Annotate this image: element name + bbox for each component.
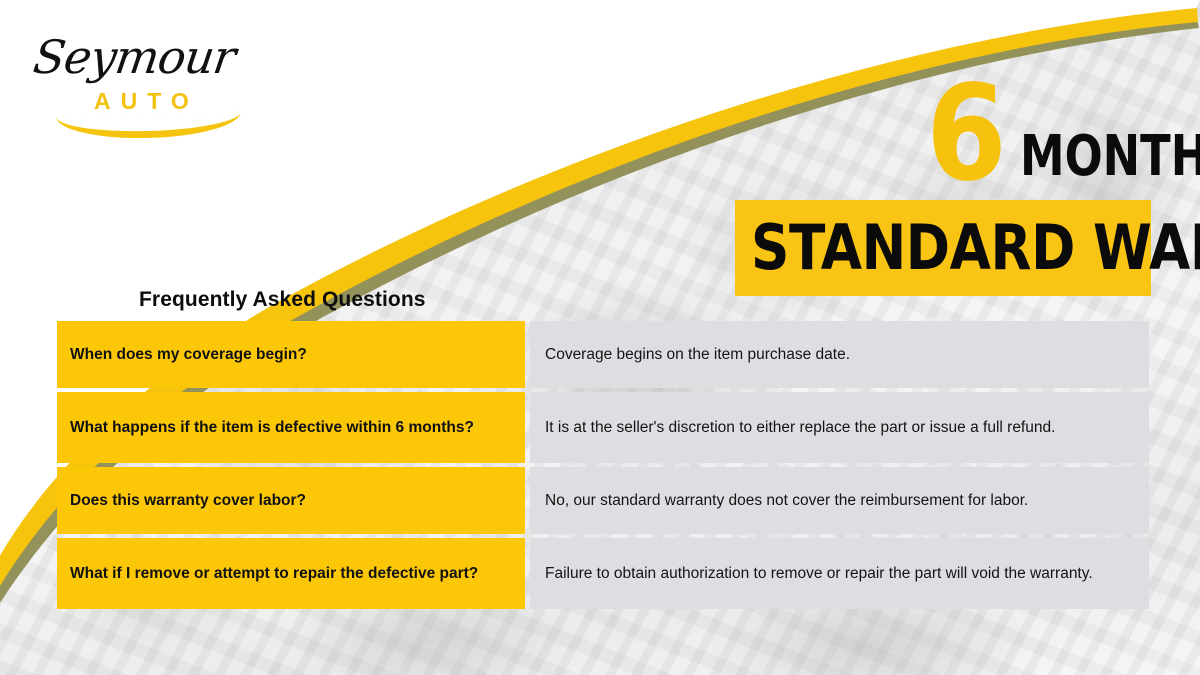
faq-question-text: Does this warranty cover labor?: [70, 490, 306, 511]
faq-answer-cell: Coverage begins on the item purchase dat…: [530, 321, 1149, 388]
faq-table: When does my coverage begin? Coverage be…: [57, 321, 1149, 609]
warranty-slide: Seymour AUTO 6 MONTH STANDARD WARRANTY F…: [0, 0, 1200, 675]
warranty-term-unit: MONTH: [1020, 129, 1200, 185]
logo-wordmark-script: Seymour: [30, 30, 238, 84]
seymour-auto-logo[interactable]: Seymour AUTO: [26, 26, 246, 134]
table-row: Does this warranty cover labor? No, our …: [57, 467, 1149, 534]
logo-wordmark-auto: AUTO: [94, 88, 199, 115]
table-row: When does my coverage begin? Coverage be…: [57, 321, 1149, 388]
faq-question-text: When does my coverage begin?: [70, 344, 307, 365]
faq-question-text: What happens if the item is defective wi…: [70, 417, 474, 438]
standard-warranty-banner: STANDARD WARRANTY: [735, 200, 1151, 296]
faq-question-cell: What if I remove or attempt to repair th…: [57, 538, 525, 609]
faq-question-cell: When does my coverage begin?: [57, 321, 525, 388]
faq-answer-text: No, our standard warranty does not cover…: [545, 490, 1134, 512]
warranty-term-number: 6: [926, 68, 1003, 200]
faq-answer-cell: Failure to obtain authorization to remov…: [530, 538, 1149, 609]
faq-answer-text: Failure to obtain authorization to remov…: [545, 563, 1134, 585]
faq-question-cell: Does this warranty cover labor?: [57, 467, 525, 534]
faq-answer-text: Coverage begins on the item purchase dat…: [545, 344, 1134, 366]
faq-question-text: What if I remove or attempt to repair th…: [70, 563, 478, 584]
faq-section-heading: Frequently Asked Questions: [139, 288, 426, 312]
faq-question-cell: What happens if the item is defective wi…: [57, 392, 525, 463]
standard-warranty-banner-text: STANDARD WARRANTY: [751, 212, 1088, 284]
faq-answer-cell: No, our standard warranty does not cover…: [530, 467, 1149, 534]
faq-answer-text: It is at the seller's discretion to eith…: [545, 417, 1134, 439]
faq-answer-cell: It is at the seller's discretion to eith…: [530, 392, 1149, 463]
table-row: What if I remove or attempt to repair th…: [57, 538, 1149, 609]
table-row: What happens if the item is defective wi…: [57, 392, 1149, 463]
